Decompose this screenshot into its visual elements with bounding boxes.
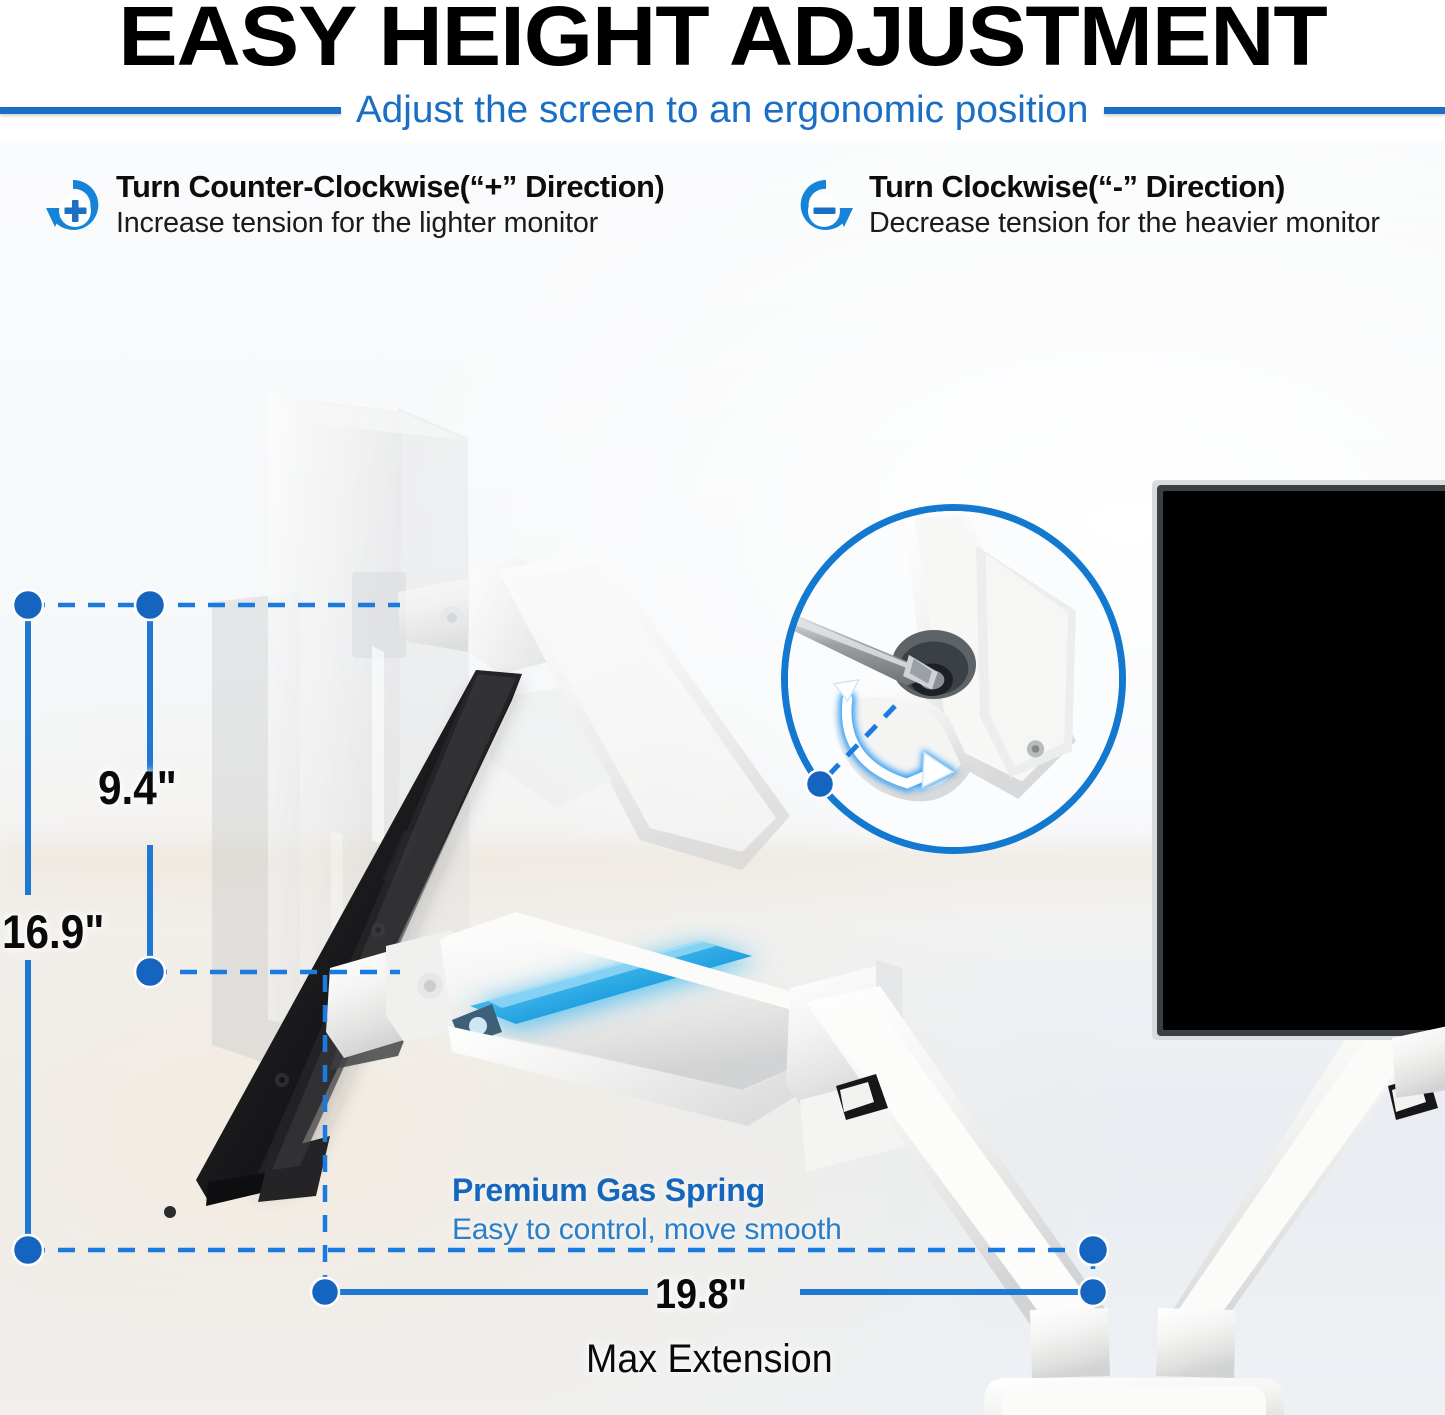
subtitle-row: Adjust the screen to an ergonomic positi… [0,82,1445,138]
rule-right [1104,107,1445,114]
tension-adjust-detail-callout [781,504,1126,854]
callout-detail-image [788,511,1119,847]
gas-spring-arm [440,912,812,1126]
page-subtitle: Adjust the screen to an ergonomic positi… [356,89,1089,132]
instruction-row: Turn Counter-Clockwise(“+” Direction) In… [0,170,1445,260]
right-monitor-screen [1152,480,1445,1040]
product-infographic: Premium Gas Spring Easy to control, move… [0,0,1445,1415]
gas-spring-caption: Premium Gas Spring Easy to control, move… [452,1172,842,1247]
rotate-counter-clockwise-plus-icon [42,175,104,241]
dual-arm-v [806,986,1438,1378]
instruction-decrease-tension: Turn Clockwise(“-” Direction) Decrease t… [795,170,1385,241]
rule-left [0,107,341,114]
instruction-text-left: Turn Counter-Clockwise(“+” Direction) In… [116,170,670,240]
callout-ring [781,504,1126,854]
right-monitor-mount [1392,1026,1445,1098]
instruction-subtext: Decrease tension for the heavier monitor [869,206,1380,240]
page-title: EASY HEIGHT ADJUSTMENT [0,0,1445,78]
header-banner: EASY HEIGHT ADJUSTMENT Adjust the screen… [0,0,1445,140]
rotate-clockwise-minus-icon [795,175,857,241]
instruction-heading: Turn Clockwise(“-” Direction) [869,170,1380,205]
desk-clamp-base [984,1378,1284,1415]
instruction-increase-tension: Turn Counter-Clockwise(“+” Direction) In… [42,170,670,241]
minus-sign [814,208,836,215]
instruction-text-right: Turn Clockwise(“-” Direction) Decrease t… [869,170,1385,240]
product-scene: Premium Gas Spring Easy to control, move… [0,140,1445,1415]
instruction-heading: Turn Counter-Clockwise(“+” Direction) [116,170,664,205]
feature-heading: Premium Gas Spring [452,1172,765,1209]
instruction-subtext: Increase tension for the lighter monitor [116,206,664,240]
feature-subheading: Easy to control, move smooth [452,1213,842,1247]
